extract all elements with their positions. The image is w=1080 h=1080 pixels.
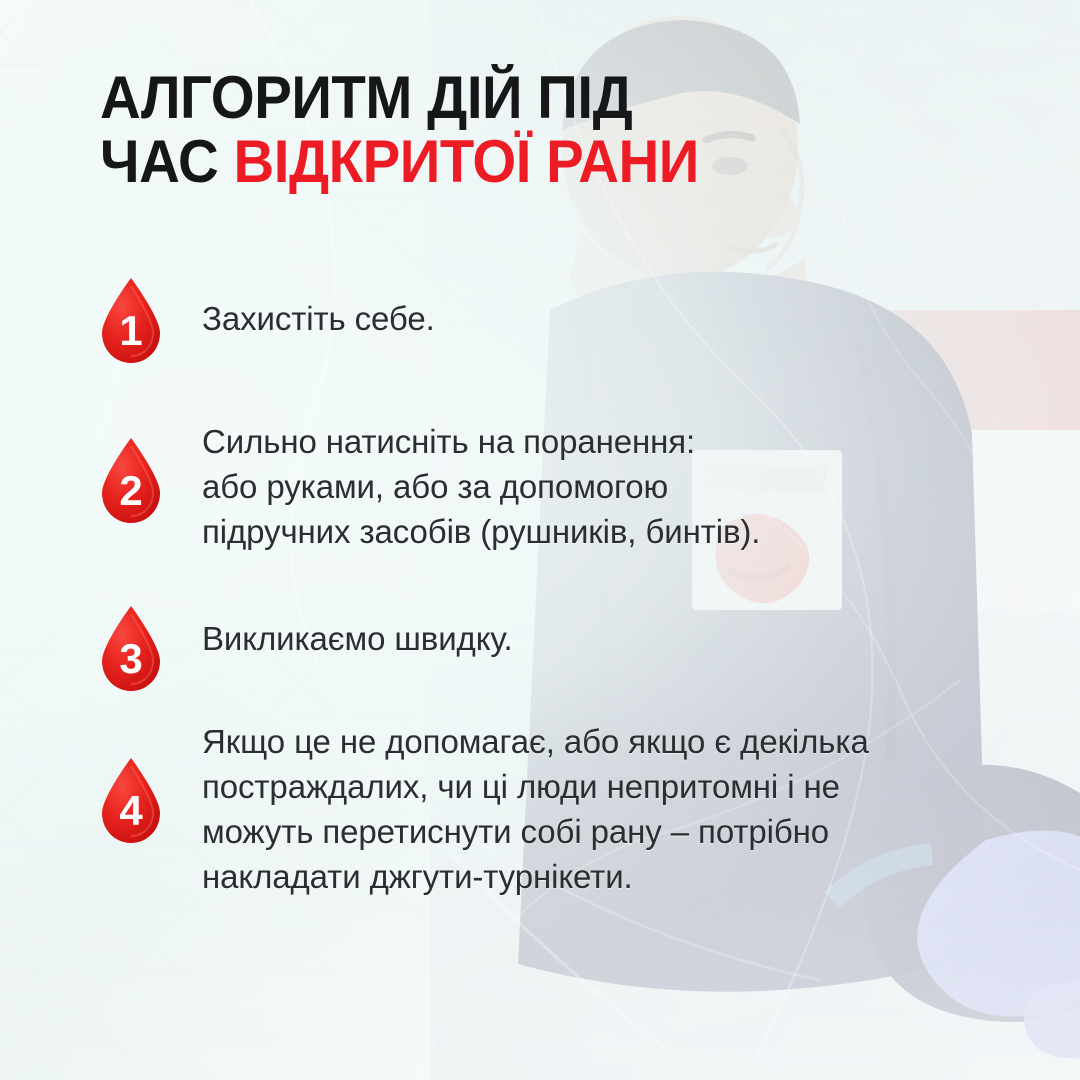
footer: 3 ГОРТАЙ ДАЛІ xyxy=(0,960,1080,1080)
step-text: Захистіть себе. xyxy=(202,297,435,342)
step-line: Сильно натисніть на поранення: xyxy=(202,420,760,465)
page-title: АЛГОРИТМ ДІЙ ПІД ЧАС ВІДКРИТОЇ РАНИ xyxy=(100,66,860,194)
step-line: Захистіть себе. xyxy=(202,297,435,342)
step-number: 1 xyxy=(119,307,142,354)
step-line: можуть перетиснути собі рану – потрібно xyxy=(202,810,869,855)
blood-drop-icon: 4 xyxy=(98,757,164,845)
title-line-1: АЛГОРИТМ ДІЙ ПІД xyxy=(100,66,814,130)
step-line: Викликаємо швидку. xyxy=(202,617,513,662)
blood-drop-icon: 2 xyxy=(98,437,164,525)
step-text: Сильно натисніть на поранення: або рукам… xyxy=(202,420,760,555)
step-line: або руками, або за допомогою xyxy=(202,465,760,510)
title-line-2-plain: ЧАС xyxy=(100,128,233,195)
slide-content: АЛГОРИТМ ДІЙ ПІД ЧАС ВІДКРИТОЇ РАНИ xyxy=(0,0,1080,1080)
step-line: постраждалих, чи ці люди непритомні і не xyxy=(202,765,869,810)
blood-drop-icon: 1 xyxy=(98,277,164,365)
title-line-2: ЧАС ВІДКРИТОЇ РАНИ xyxy=(100,130,814,194)
step-text: Якщо це не допомагає, або якщо є декільк… xyxy=(202,720,869,900)
step-line: Якщо це не допомагає, або якщо є декільк… xyxy=(202,720,869,765)
step-number: 2 xyxy=(119,467,142,514)
infographic-slide: АЛГОРИТМ ДІЙ ПІД ЧАС ВІДКРИТОЇ РАНИ xyxy=(0,0,1080,1080)
step-text: Викликаємо швидку. xyxy=(202,617,513,662)
title-line-2-accent: ВІДКРИТОЇ РАНИ xyxy=(233,128,698,195)
step-line: підручних засобів (рушників, бинтів). xyxy=(202,510,760,555)
step-number: 3 xyxy=(119,635,142,682)
step-line: накладати джгути-турнікети. xyxy=(202,855,869,900)
blood-drop-icon: 3 xyxy=(98,605,164,693)
step-number: 4 xyxy=(119,787,143,834)
